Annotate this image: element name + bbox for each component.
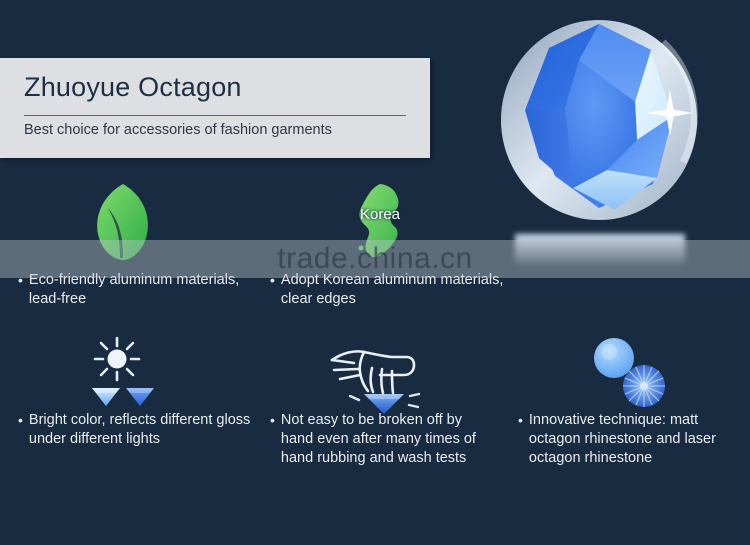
watermark-text: trade.china.cn bbox=[0, 238, 750, 280]
feature-text: • Bright color, reflects different gloss… bbox=[18, 411, 253, 449]
feature-innovative-technique: • Innovative technique: matt octagon rhi… bbox=[500, 336, 750, 526]
bullet-icon: • bbox=[518, 411, 523, 430]
feature-text: • Innovative technique: matt octagon rhi… bbox=[518, 411, 738, 468]
title-divider bbox=[24, 115, 406, 116]
sparkle-icon bbox=[647, 90, 693, 136]
page-subtitle: Best choice for accessories of fashion g… bbox=[24, 122, 332, 138]
feature-bright-color: • Bright color, reflects different gloss… bbox=[0, 336, 260, 526]
bullet-icon: • bbox=[18, 411, 23, 430]
korea-map-label: Korea bbox=[342, 206, 418, 223]
sun-with-gems-icon bbox=[72, 336, 182, 413]
feature-text: • Not easy to be broken off by hand even… bbox=[270, 411, 490, 468]
bullet-icon: • bbox=[270, 411, 275, 430]
feature-label: Innovative technique: matt octagon rhine… bbox=[529, 411, 738, 468]
product-banner: Zhuoyue Octagon Best choice for accessor… bbox=[0, 0, 750, 545]
two-rhinestones-icon bbox=[592, 336, 670, 415]
feature-durability: • Not easy to be broken off by hand even… bbox=[252, 336, 507, 526]
page-title: Zhuoyue Octagon bbox=[24, 72, 242, 103]
feature-grid: • Eco-friendly aluminum materials, lead-… bbox=[0, 178, 750, 538]
hand-rubbing-gem-icon bbox=[320, 338, 424, 419]
feature-label: Bright color, reflects different gloss u… bbox=[29, 411, 253, 449]
feature-label: Not easy to be broken off by hand even a… bbox=[281, 411, 490, 468]
title-panel: Zhuoyue Octagon Best choice for accessor… bbox=[0, 58, 430, 158]
